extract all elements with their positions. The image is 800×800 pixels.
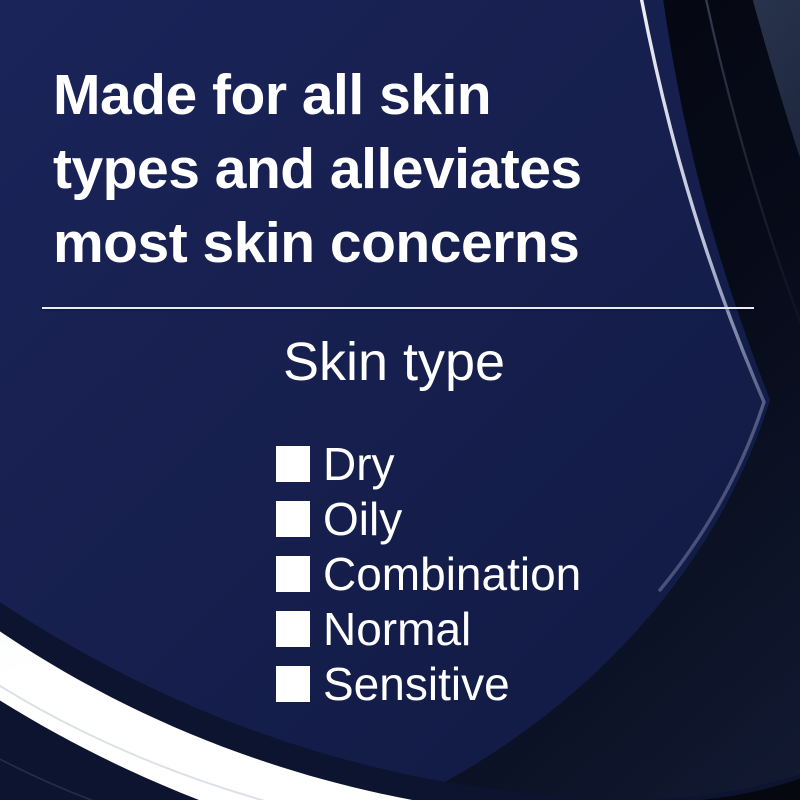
headline-line-1: Made for all skin: [53, 58, 733, 132]
page-title: Made for all skin types and alleviates m…: [53, 58, 733, 280]
section-heading: Skin type: [0, 330, 800, 394]
list-item-label: Sensitive: [323, 659, 510, 709]
skin-type-checklist: Dry Oily Combination Normal Sensitive: [276, 436, 756, 711]
slide-content: Made for all skin types and alleviates m…: [0, 0, 800, 800]
list-item-label: Dry: [323, 439, 395, 489]
checkbox-square-icon[interactable]: [276, 666, 310, 702]
list-item[interactable]: Dry: [276, 436, 756, 491]
skincare-info-slide: Made for all skin types and alleviates m…: [0, 0, 800, 800]
list-item-label: Normal: [323, 604, 471, 654]
section-divider: [42, 307, 754, 309]
list-item[interactable]: Oily: [276, 491, 756, 546]
list-item-label: Oily: [323, 494, 402, 544]
headline-line-3: most skin concerns: [53, 206, 733, 280]
headline-line-2: types and alleviates: [53, 132, 733, 206]
checkbox-square-icon[interactable]: [276, 611, 310, 647]
checkbox-square-icon[interactable]: [276, 501, 310, 537]
checkbox-square-icon[interactable]: [276, 556, 310, 592]
list-item-label: Combination: [323, 549, 581, 599]
list-item[interactable]: Normal: [276, 601, 756, 656]
checkbox-square-icon[interactable]: [276, 446, 310, 482]
list-item[interactable]: Sensitive: [276, 656, 756, 711]
list-item[interactable]: Combination: [276, 546, 756, 601]
